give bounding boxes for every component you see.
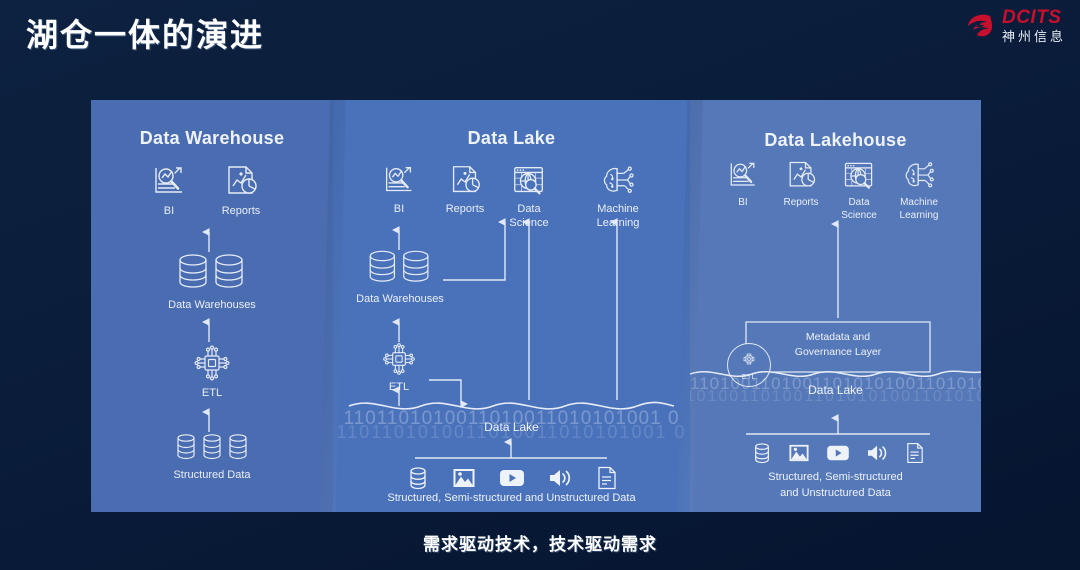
- source-icon-row: [407, 466, 617, 495]
- node-label-machine-learning: Machine Learning: [884, 197, 954, 222]
- node-label-data-lake: Data Lake: [333, 420, 690, 434]
- node-reports: Reports: [203, 162, 279, 219]
- bi-chart-magnifier-icon: [135, 162, 203, 202]
- etl-chip-icon: [177, 342, 247, 384]
- video-icon: [499, 468, 525, 493]
- node-label-reports: Reports: [203, 205, 279, 219]
- panel-title-data-lake: Data Lake: [333, 128, 690, 149]
- video-icon: [826, 444, 850, 467]
- node-bi: BI: [714, 158, 772, 210]
- panel-title-data-lakehouse: Data Lakehouse: [690, 130, 981, 151]
- panel-data-lakehouse: Data Lakehouse: [690, 100, 981, 512]
- node-label-reports: Reports: [429, 203, 501, 217]
- brand-chinese-name: 神州信息: [1002, 30, 1066, 43]
- governance-layer-label: Metadata and Governance Layer: [750, 330, 926, 360]
- structured-data-databases-icon: [141, 432, 283, 466]
- bi-chart-magnifier-icon: [367, 162, 431, 200]
- node-label-data-warehouses: Data Warehouses: [153, 299, 271, 313]
- database-icon: [752, 442, 772, 469]
- node-label-reports: Reports: [768, 197, 834, 210]
- machine-learning-brain-icon: [579, 162, 657, 200]
- node-data-science: Data Science: [493, 162, 565, 231]
- node-label-structured-data: Structured Data: [141, 469, 283, 483]
- bi-chart-magnifier-icon: [714, 158, 772, 194]
- audio-icon: [866, 443, 890, 468]
- reports-document-pie-icon: [203, 162, 279, 202]
- database-stack-icon: [347, 248, 453, 290]
- brand-latin-name: DCITS: [1002, 8, 1066, 27]
- image-icon: [788, 443, 810, 468]
- page-title: 湖仓一体的演进: [26, 10, 264, 56]
- node-label-data-warehouses: Data Warehouses: [347, 293, 453, 307]
- node-label-machine-learning: Machine Learning: [579, 203, 657, 231]
- node-etl: ETL: [369, 340, 429, 395]
- node-bi: BI: [135, 162, 203, 219]
- data-science-globe-browser-icon: [493, 162, 565, 200]
- node-label-source-data: Structured, Semi-structured and Unstruct…: [333, 492, 690, 504]
- database-stack-icon: [153, 252, 271, 296]
- source-icon-row: [752, 442, 924, 469]
- data-science-globe-browser-icon: [828, 158, 890, 194]
- node-label-etl: ETL: [177, 387, 247, 401]
- node-reports: Reports: [768, 158, 834, 210]
- node-data-warehouses: Data Warehouses: [347, 248, 453, 307]
- node-label-data-science: Data Science: [493, 203, 565, 231]
- node-machine-learning: Machine Learning: [884, 158, 954, 222]
- brand-logo: DCITS 神州信息: [963, 8, 1066, 43]
- node-label-bi: BI: [714, 197, 772, 210]
- node-label-data-science: Data Science: [828, 197, 890, 222]
- document-icon: [597, 466, 617, 495]
- node-data-warehouses: Data Warehouses: [153, 252, 271, 313]
- reports-document-pie-icon: [429, 162, 501, 200]
- panel-data-warehouse: Data Warehouse: [91, 100, 333, 512]
- image-icon: [452, 467, 476, 494]
- node-label-data-lake: Data Lake: [690, 383, 981, 397]
- panel-data-lake: Data Lake: [333, 100, 690, 512]
- reports-document-pie-icon: [768, 158, 834, 194]
- audio-icon: [548, 467, 574, 494]
- node-machine-learning: Machine Learning: [579, 162, 657, 231]
- node-bi: BI: [367, 162, 431, 217]
- node-data-science: Data Science: [828, 158, 890, 222]
- footer-caption: 需求驱动技术，技术驱动需求: [0, 530, 1080, 555]
- node-label-source-data: Structured, Semi-structured and Unstruct…: [700, 470, 971, 502]
- panel-title-data-warehouse: Data Warehouse: [91, 128, 333, 149]
- machine-learning-brain-icon: [884, 158, 954, 194]
- database-icon: [407, 466, 429, 495]
- node-label-bi: BI: [367, 203, 431, 217]
- dcits-swoosh-icon: [963, 9, 997, 43]
- node-label-bi: BI: [135, 205, 203, 219]
- node-etl: ETL: [177, 342, 247, 401]
- etl-chip-icon: [369, 340, 429, 378]
- lakehouse-evolution-diagram: Data Warehouse: [91, 100, 981, 512]
- node-structured-data: Structured Data: [141, 432, 283, 483]
- node-reports: Reports: [429, 162, 501, 217]
- document-icon: [906, 442, 924, 469]
